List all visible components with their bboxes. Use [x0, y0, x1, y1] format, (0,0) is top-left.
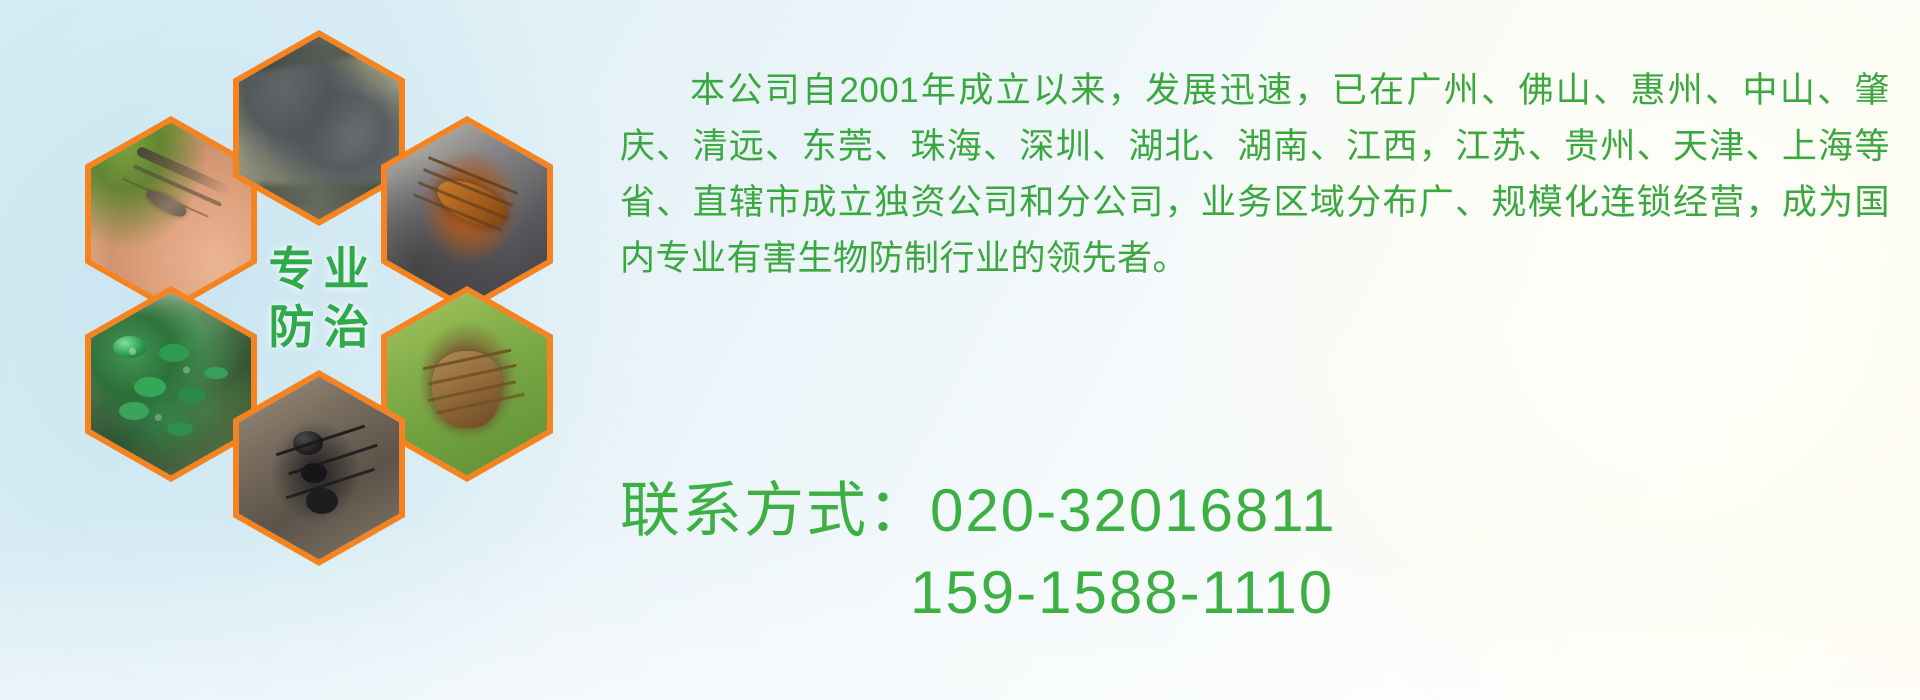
- company-intro-paragraph: 本公司自2001年成立以来，发展迅速，已在广州、佛山、惠州、中山、肇庆、清远、东…: [620, 63, 1890, 287]
- mosquito-photo: [91, 123, 251, 306]
- hex-inner-rats: [239, 37, 399, 220]
- hex-cell-stinkbug-icon: [381, 286, 553, 482]
- honeycomb-image-collage: 专业 防治: [85, 8, 605, 568]
- slogan-line-2: 防治: [260, 303, 379, 351]
- contact-phone-landline[interactable]: 联系方式：020-32016811: [620, 470, 1890, 552]
- contact-phone-mobile[interactable]: 159-1588-1110: [620, 552, 1890, 634]
- hex-inner-bug: [387, 293, 547, 476]
- hex-cell-ant-icon: [233, 370, 405, 566]
- hex-cell-slogan: 专业 防治: [233, 200, 405, 396]
- slogan-text-group: 专业 防治: [233, 200, 405, 396]
- company-copy-block: 本公司自2001年成立以来，发展迅速，已在广州、佛山、惠州、中山、肇庆、清远、东…: [620, 28, 1890, 322]
- stinkbug-photo: [387, 293, 547, 476]
- contact-block: 联系方式：020-32016811 159-1588-1110: [620, 470, 1890, 634]
- hex-inner-flies: [91, 293, 251, 476]
- hex-inner-cockroach: [387, 123, 547, 306]
- hex-cell-fly-icon: [85, 286, 257, 482]
- flies-photo: [91, 293, 251, 476]
- hex-inner-mosquito: [91, 123, 251, 306]
- hex-cell-mosquito-icon: [85, 116, 257, 312]
- promo-banner: 专业 防治 本公司自2001年成立以来，发展迅速，已在广州、佛山、惠州、中山、肇…: [0, 0, 1920, 700]
- cockroach-photo: [387, 123, 547, 306]
- hex-cell-cockroach-icon: [381, 116, 553, 312]
- hex-inner-ant: [239, 377, 399, 560]
- rats-photo: [239, 37, 399, 220]
- ant-photo: [239, 377, 399, 560]
- hex-cell-rat-icon: [233, 30, 405, 226]
- slogan-line-1: 专业: [260, 245, 379, 293]
